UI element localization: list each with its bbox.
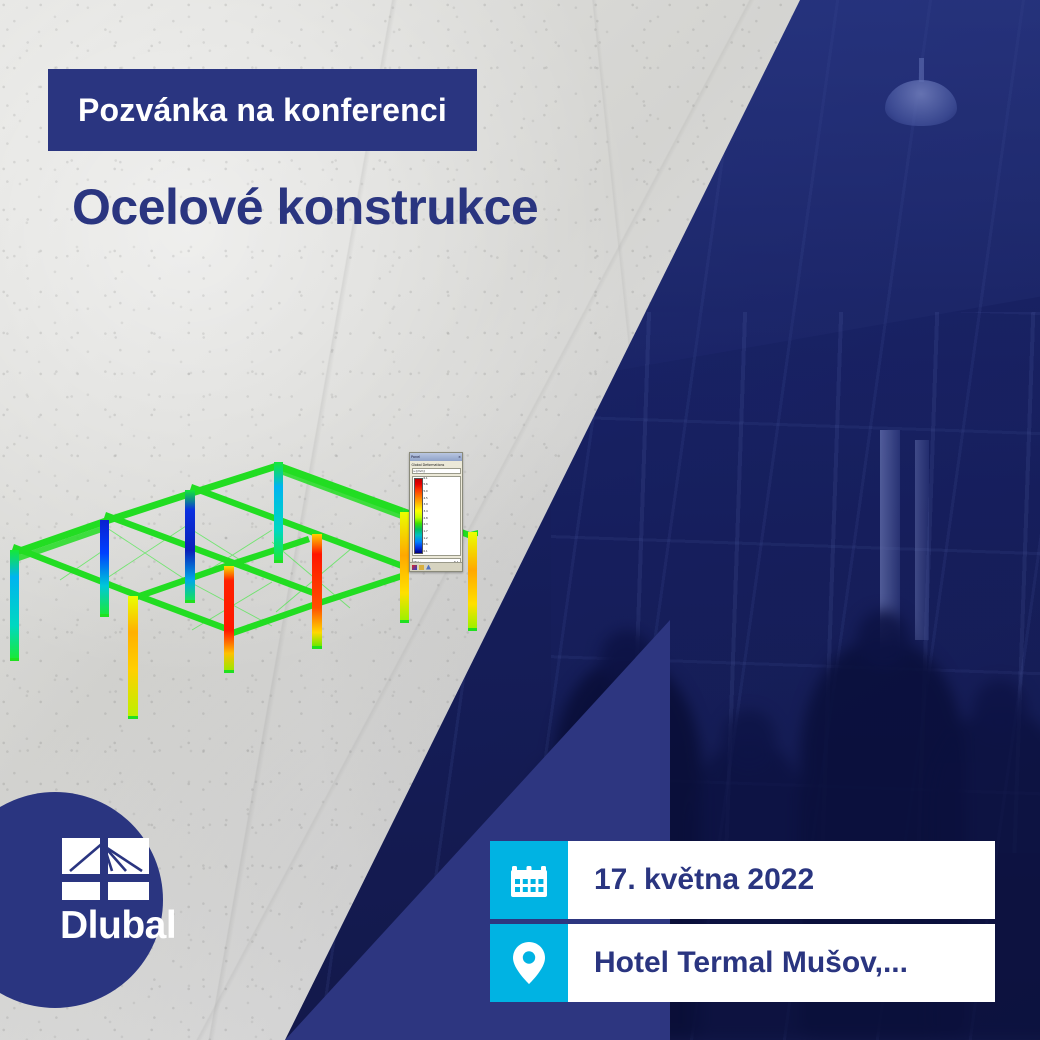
calendar-icon [490, 841, 568, 919]
event-location: Hotel Termal Mušov,... [568, 924, 995, 1002]
colors-icon[interactable] [412, 565, 417, 570]
location-pin-icon [490, 924, 568, 1002]
legend-tick: 0.6 [424, 544, 459, 547]
poster-canvas: Pozvánka na konferenci Ocelové konstrukc… [0, 0, 1040, 1040]
legend-tick-list: 6.1 5.6 5.0 4.5 3.9 3.4 2.8 2.3 1.7 1.2 … [423, 478, 459, 554]
close-icon[interactable]: × [458, 455, 461, 459]
panel-body: Global Deformations u [mm] 6.1 5.6 5.0 4… [410, 461, 462, 571]
info-row-location[interactable]: Hotel Termal Mušov,... [490, 924, 995, 1002]
results-panel[interactable]: Panel × Global Deformations u [mm] 6.1 5… [409, 452, 463, 572]
legend-tick: 1.2 [424, 538, 459, 541]
page-title: Ocelové konstrukce [72, 178, 538, 236]
legend-tick: 5.6 [424, 484, 459, 487]
legend-tick: 0.1 [424, 551, 459, 554]
legend-gradient-bar [414, 478, 423, 554]
panel-title-label: Panel [411, 455, 420, 459]
legend-tick: 2.3 [424, 524, 459, 527]
panel-toolbar[interactable] [410, 562, 462, 571]
legend-tick: 6.1 [424, 478, 459, 481]
legend-tick: 1.7 [424, 531, 459, 534]
legend-tick: 5.0 [424, 491, 459, 494]
bridge-icon [62, 838, 149, 900]
settings-icon[interactable] [419, 565, 424, 570]
panel-title-bar: Panel × [410, 453, 462, 461]
scale-icon[interactable] [426, 565, 431, 570]
legend-tick: 3.9 [424, 504, 459, 507]
panel-result-label: Global Deformations [412, 463, 461, 467]
legend-tick: 3.4 [424, 511, 459, 514]
legend-tick: 4.5 [424, 498, 459, 501]
kicker-label: Pozvánka na konferenci [78, 92, 447, 129]
event-info-bar: 17. května 2022 Hotel Termal Mušov,... [490, 841, 995, 1002]
legend-tick: 2.8 [424, 518, 459, 521]
kicker-banner: Pozvánka na konferenci [48, 69, 477, 151]
brand-name: Dlubal [60, 904, 176, 948]
info-row-date[interactable]: 17. května 2022 [490, 841, 995, 919]
color-legend: 6.1 5.6 5.0 4.5 3.9 3.4 2.8 2.3 1.7 1.2 … [412, 476, 461, 556]
event-date: 17. května 2022 [568, 841, 995, 919]
panel-unit-label: u [mm] [412, 468, 461, 474]
